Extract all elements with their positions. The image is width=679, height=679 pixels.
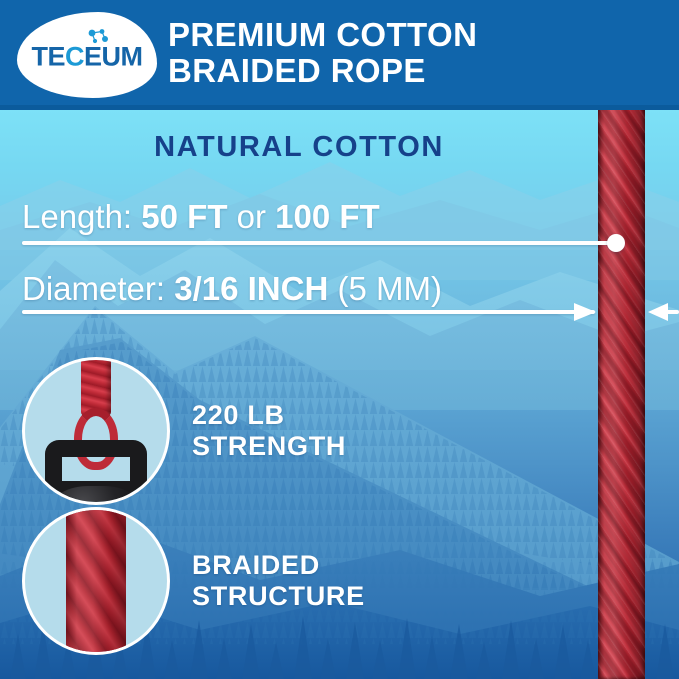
length-measure-line [22, 241, 614, 245]
length-measure-dot [607, 234, 625, 252]
brand-prefix: TE [31, 41, 65, 71]
feature-braided-line-2: STRUCTURE [192, 581, 365, 612]
braided-rope-closeup-icon [66, 507, 126, 655]
feature-strength-line-2: STRENGTH [192, 431, 346, 462]
title-line-1: PREMIUM COTTON [168, 16, 477, 53]
brand-highlight-letter: C [65, 41, 84, 71]
feature-strength-label: 220 LB STRENGTH [192, 400, 346, 462]
kettlebell-icon [37, 440, 155, 505]
molecule-icon [85, 28, 111, 48]
diameter-measure-line-right [662, 310, 679, 314]
feature-braided: BRAIDED STRUCTURE [22, 507, 365, 655]
spec-diameter-value: 3/16 INCH [174, 270, 328, 307]
braided-badge-image [22, 507, 170, 655]
spec-length-value-1: 50 FT [141, 198, 227, 235]
spec-length: Length: 50 FT or 100 FT [22, 198, 380, 236]
spec-length-label: Length: [22, 198, 132, 235]
spec-diameter-unit: (5 MM) [337, 270, 441, 307]
feature-braided-line-1: BRAIDED [192, 550, 365, 581]
spec-diameter-label: Diameter: [22, 270, 165, 307]
spec-diameter: Diameter: 3/16 INCH (5 MM) [22, 270, 442, 308]
strength-badge-image [22, 357, 170, 505]
feature-strength: 220 LB STRENGTH [22, 357, 346, 505]
feature-strength-line-1: 220 LB [192, 400, 346, 431]
subtitle-natural-cotton: NATURAL COTTON [0, 131, 598, 164]
page-title: PREMIUM COTTON BRAIDED ROPE [168, 17, 568, 89]
diameter-measure-line [22, 310, 595, 314]
feature-braided-label: BRAIDED STRUCTURE [192, 550, 365, 612]
spec-length-value-2: 100 FT [275, 198, 380, 235]
title-line-2: BRAIDED ROPE [168, 53, 568, 89]
spec-length-separator: or [237, 198, 266, 235]
diameter-arrow-right-icon [574, 303, 596, 321]
product-infographic: TECEUM PREMIUM COTTON BRAIDED ROPE NATUR… [0, 0, 679, 679]
